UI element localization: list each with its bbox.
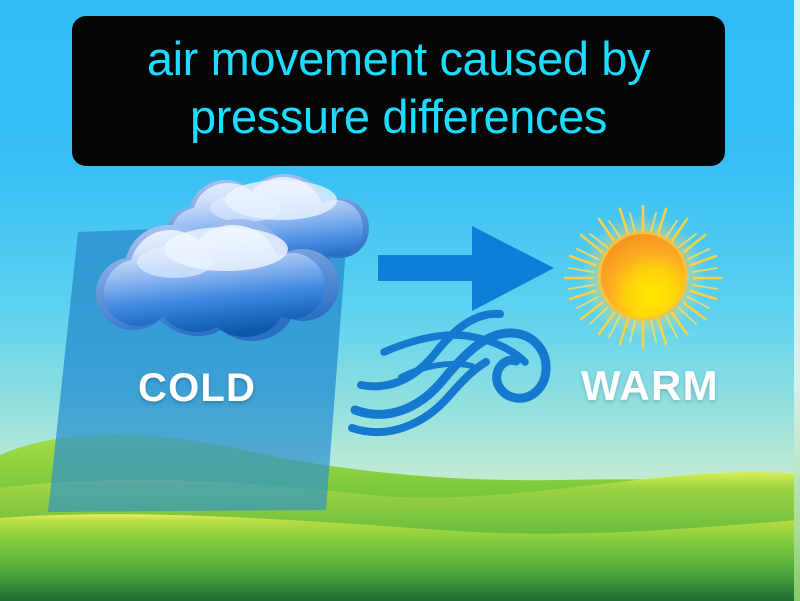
right-edge-strip	[794, 0, 800, 601]
weather-diagram-scene: air movement caused by pressure differen…	[0, 0, 800, 601]
label-warm: WARM	[581, 362, 719, 410]
label-cold: COLD	[138, 366, 256, 411]
definition-line-1: air movement caused by	[147, 30, 650, 88]
definition-card: air movement caused by pressure differen…	[72, 16, 725, 166]
definition-line-2: pressure differences	[190, 88, 607, 146]
